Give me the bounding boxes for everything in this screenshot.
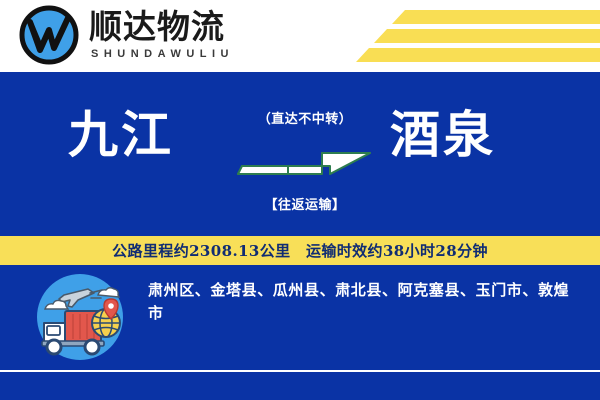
origin-city: 九江	[68, 110, 174, 160]
logo-text-block: 顺达物流 SHUNDAWULIU	[89, 10, 234, 60]
destination-panel: 肃州区、金塔县、瓜州县、肃北县、阿克塞县、玉门市、敦煌市	[0, 265, 600, 370]
route-center-group: （直达不中转） 【往返运输】	[230, 108, 380, 213]
route-panel: 九江 （直达不中转） 【往返运输】 酒泉	[0, 72, 600, 236]
circle-swoosh-logo-icon	[18, 4, 80, 66]
route-info-bar: 公路里程约2308.13公里 运输时效约38小时28分钟	[0, 236, 600, 265]
decorative-stripe-1	[392, 10, 600, 24]
destination-list: 肃州区、金塔县、瓜州县、肃北县、阿克塞县、玉门市、敦煌市	[148, 279, 580, 326]
banner-header: 顺达物流 SHUNDAWULIU	[0, 0, 600, 72]
distance-duration-text: 公路里程约2308.13公里 运输时效约38小时28分钟	[112, 240, 488, 261]
decorative-stripe-2	[374, 29, 600, 43]
destination-city: 酒泉	[390, 110, 496, 160]
decorative-stripe-3	[356, 48, 600, 62]
logo-company-name-cn: 顺达物流	[89, 10, 234, 45]
logistics-truck-globe-icon	[28, 271, 132, 363]
direct-route-note: （直达不中转）	[258, 108, 353, 127]
company-logo: 顺达物流 SHUNDAWULIU	[18, 4, 234, 66]
logistics-route-banner: 顺达物流 SHUNDAWULIU 九江 （直达不中转） 【往返运输】 酒泉 公路…	[0, 0, 600, 400]
footer-band	[0, 372, 600, 400]
round-trip-note: 【往返运输】	[264, 194, 345, 213]
logo-company-name-en: SHUNDAWULIU	[91, 48, 234, 60]
bidirectional-arrow-icon	[230, 141, 380, 181]
